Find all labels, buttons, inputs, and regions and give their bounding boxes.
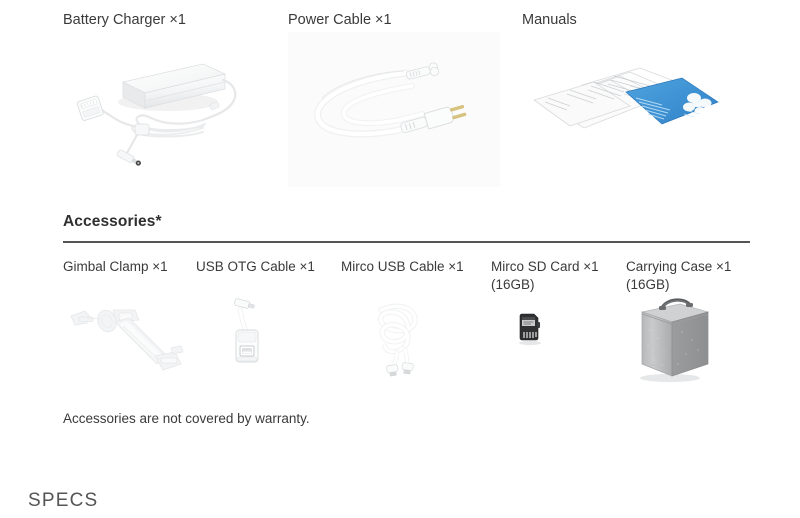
accessory-item-micro-sd-card: Mirco SD Card ×1 (16GB) [491,252,623,392]
usb-otg-cable-photo [196,294,328,386]
included-item-manuals: Manuals [522,0,747,200]
gimbal-clamp-photo [63,294,195,386]
power-cable-photo [288,40,500,190]
accessory-label-main: Carrying Case ×1 [626,259,731,274]
accessory-label: Carrying Case ×1 (16GB) [626,258,731,294]
accessory-label-sub: (16GB) [491,276,599,294]
accessory-label: Mirco SD Card ×1 (16GB) [491,258,599,294]
accessory-label-sub: (16GB) [626,276,731,294]
specs-section-title: SPECS [28,490,98,512]
accessories-row: Gimbal Clamp ×1 [0,252,800,392]
included-item-battery-charger: Battery Charger ×1 [63,0,285,200]
included-item-label: Power Cable ×1 [288,11,392,30]
accessory-label-main: Mirco USB Cable ×1 [341,259,464,274]
accessories-divider [63,241,750,243]
included-items-row: Battery Charger ×1 [0,0,800,200]
accessory-item-micro-usb-cable: Mirco USB Cable ×1 [341,252,473,392]
manuals-photo [522,40,747,190]
accessory-item-usb-otg-cable: USB OTG Cable ×1 [196,252,328,392]
included-item-label: Battery Charger ×1 [63,11,186,30]
micro-sd-card-photo [491,294,623,386]
micro-usb-cable-photo [341,294,473,386]
included-item-label: Manuals [522,11,577,30]
accessory-item-gimbal-clamp: Gimbal Clamp ×1 [63,252,195,392]
battery-charger-photo [63,40,285,190]
product-contents-page: Battery Charger ×1 [0,0,800,518]
accessory-label-main: Gimbal Clamp ×1 [63,259,168,274]
accessory-label: Gimbal Clamp ×1 [63,258,168,276]
accessory-item-carrying-case: Carrying Case ×1 (16GB) [626,252,766,392]
accessory-label: Mirco USB Cable ×1 [341,258,464,276]
included-item-power-cable: Power Cable ×1 [288,0,500,200]
accessories-heading: Accessories* [63,213,162,231]
accessory-label-main: USB OTG Cable ×1 [196,259,315,274]
accessory-label-main: Mirco SD Card ×1 [491,259,599,274]
carrying-case-photo [626,294,758,386]
accessories-warranty-footnote: Accessories are not covered by warranty. [63,411,310,426]
accessory-label: USB OTG Cable ×1 [196,258,315,276]
